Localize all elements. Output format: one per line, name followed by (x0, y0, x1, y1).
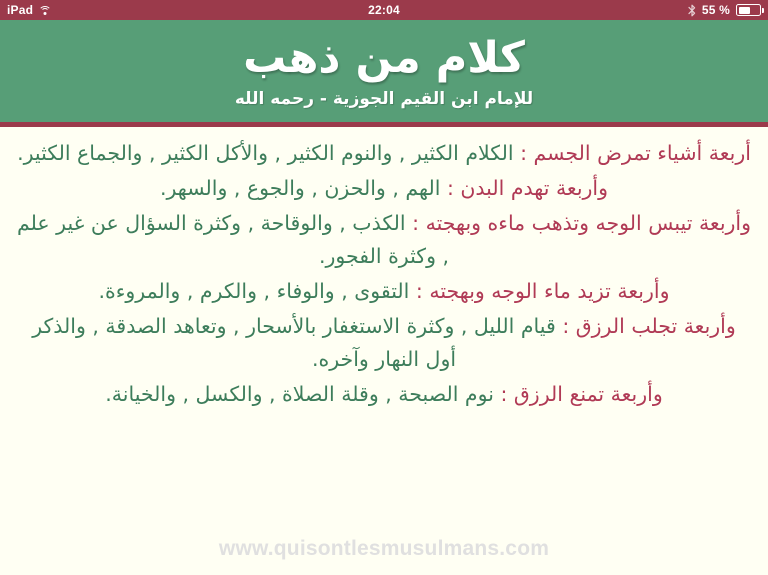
paragraph-lead: وأربعة تهدم البدن : (447, 176, 608, 200)
status-bar-right: 55 % (400, 3, 761, 17)
paragraph-items: التقوى , والوفاء , والكرم , والمروءة. (99, 279, 410, 303)
battery-percent-label: 55 % (702, 3, 730, 17)
content-paragraph: وأربعة تيبس الوجه وتذهب ماءه وبهجته : ال… (14, 207, 754, 272)
content-paragraph: أربعة أشياء تمرض الجسم : الكلام الكثير ,… (14, 137, 754, 169)
content-paragraph: وأربعة تزيد ماء الوجه وبهجته : التقوى , … (14, 275, 754, 307)
content-paragraph: وأربعة تهدم البدن : الهم , والحزن , والج… (14, 172, 754, 204)
app-root: iPad 22:04 55 % كلام من ذهب للإمام ابن ا… (0, 0, 768, 575)
content-paragraph: وأربعة تمنع الرزق : نوم الصبحة , وقلة ال… (14, 378, 754, 410)
status-bar-clock: 22:04 (368, 3, 400, 17)
paragraph-items: قيام الليل , وكثرة الاستغفار بالأسحار , … (32, 314, 556, 370)
device-name-label: iPad (7, 3, 33, 17)
content-body: أربعة أشياء تمرض الجسم : الكلام الكثير ,… (0, 127, 768, 535)
bluetooth-icon (688, 4, 696, 17)
paragraph-items: الهم , والحزن , والجوع , والسهر. (160, 176, 440, 200)
page-header: كلام من ذهب للإمام ابن القيم الجوزية - ر… (0, 20, 768, 127)
paragraph-lead: وأربعة تزيد ماء الوجه وبهجته : (416, 279, 670, 303)
page-footer: www.quisontlesmusulmans.com (0, 535, 768, 575)
battery-icon (736, 4, 761, 16)
paragraph-items: الكلام الكثير , والنوم الكثير , والأكل ا… (17, 141, 513, 165)
paragraph-lead: وأربعة تجلب الرزق : (562, 314, 735, 338)
page-subtitle: للإمام ابن القيم الجوزية - رحمه الله (10, 89, 758, 109)
paragraph-lead: أربعة أشياء تمرض الجسم : (520, 141, 751, 165)
paragraph-lead: وأربعة تيبس الوجه وتذهب ماءه وبهجته : (412, 211, 751, 235)
website-watermark: www.quisontlesmusulmans.com (219, 537, 549, 560)
paragraph-items: نوم الصبحة , وقلة الصلاة , والكسل , والخ… (105, 382, 494, 406)
page-title: كلام من ذهب (10, 34, 758, 82)
paragraph-items: الكذب , والوقاحة , وكثرة السؤال عن غير ع… (17, 211, 449, 267)
wifi-icon (38, 5, 51, 16)
ios-status-bar: iPad 22:04 55 % (0, 0, 768, 20)
status-bar-left: iPad (7, 3, 368, 17)
content-paragraph: وأربعة تجلب الرزق : قيام الليل , وكثرة ا… (14, 310, 754, 375)
paragraph-lead: وأربعة تمنع الرزق : (500, 382, 662, 406)
